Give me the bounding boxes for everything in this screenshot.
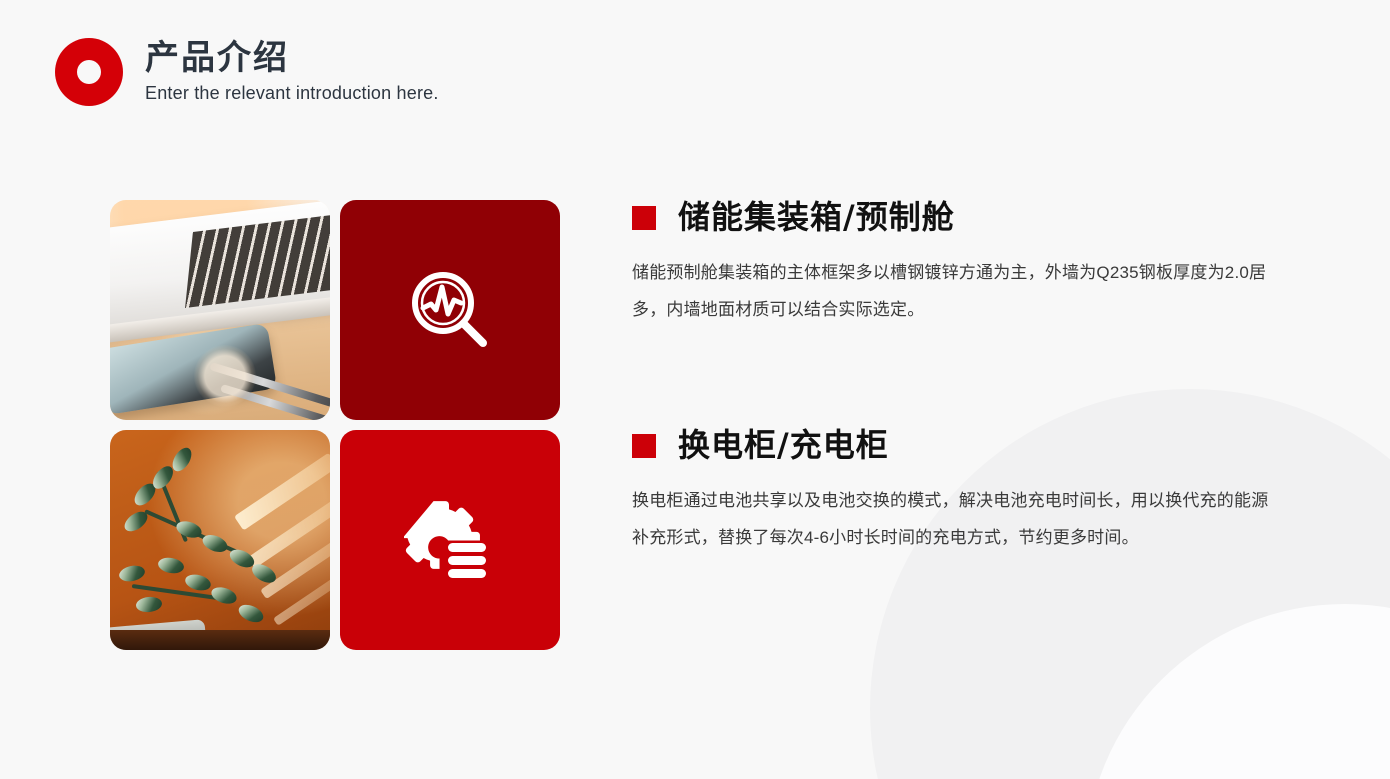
content-block-title: 换电柜/充电柜 <box>678 428 889 463</box>
plant-leaf <box>201 531 231 555</box>
plant-orange-wall-photo <box>110 430 330 650</box>
plant-leaf <box>136 596 163 614</box>
content-block-header: 储能集装箱/预制舱 <box>632 200 1278 235</box>
content-column: 储能集装箱/预制舱 储能预制舱集装箱的主体框架多以槽钢镀锌方通为主，外墙为Q23… <box>632 200 1278 557</box>
magnifier-chart-icon-tile <box>340 200 560 420</box>
logo-hole <box>77 60 101 84</box>
plant-leaf <box>236 601 266 625</box>
plant-leaf <box>183 572 212 593</box>
page-header: 产品介绍 Enter the relevant introduction her… <box>55 38 439 106</box>
content-block-body: 换电柜通过电池共享以及电池交换的模式，解决电池充电时间长，用以换代充的能源补充形… <box>632 483 1278 556</box>
red-ring-logo-icon <box>55 38 123 106</box>
page-title: 产品介绍 <box>145 39 439 78</box>
photo-floor-band <box>110 630 330 650</box>
magnifier-with-waveform-icon <box>404 264 496 356</box>
content-block: 储能集装箱/预制舱 储能预制舱集装箱的主体框架多以槽钢镀锌方通为主，外墙为Q23… <box>632 200 1278 328</box>
desk-laptop-phone-photo <box>110 200 330 420</box>
header-text-group: 产品介绍 Enter the relevant introduction her… <box>145 39 439 105</box>
background-ring-inner-decoration <box>1085 604 1390 779</box>
content-block: 换电柜/充电柜 换电柜通过电池共享以及电池交换的模式，解决电池充电时间长，用以换… <box>632 428 1278 556</box>
gallery-grid <box>110 200 560 650</box>
plant-leaf <box>210 585 239 607</box>
plant-leaf <box>157 555 185 574</box>
red-square-bullet-icon <box>632 206 656 230</box>
content-block-header: 换电柜/充电柜 <box>632 428 1278 463</box>
gear-with-list-lines-icon <box>404 494 496 586</box>
red-square-bullet-icon <box>632 434 656 458</box>
gear-list-icon-tile <box>340 430 560 650</box>
lens-flare <box>194 345 256 407</box>
content-block-body: 储能预制舱集装箱的主体框架多以槽钢镀锌方通为主，外墙为Q235钢板厚度为2.0居… <box>632 255 1278 328</box>
plant-leaf <box>118 564 147 584</box>
page-subtitle: Enter the relevant introduction here. <box>145 83 439 105</box>
content-block-title: 储能集装箱/预制舱 <box>678 200 955 235</box>
